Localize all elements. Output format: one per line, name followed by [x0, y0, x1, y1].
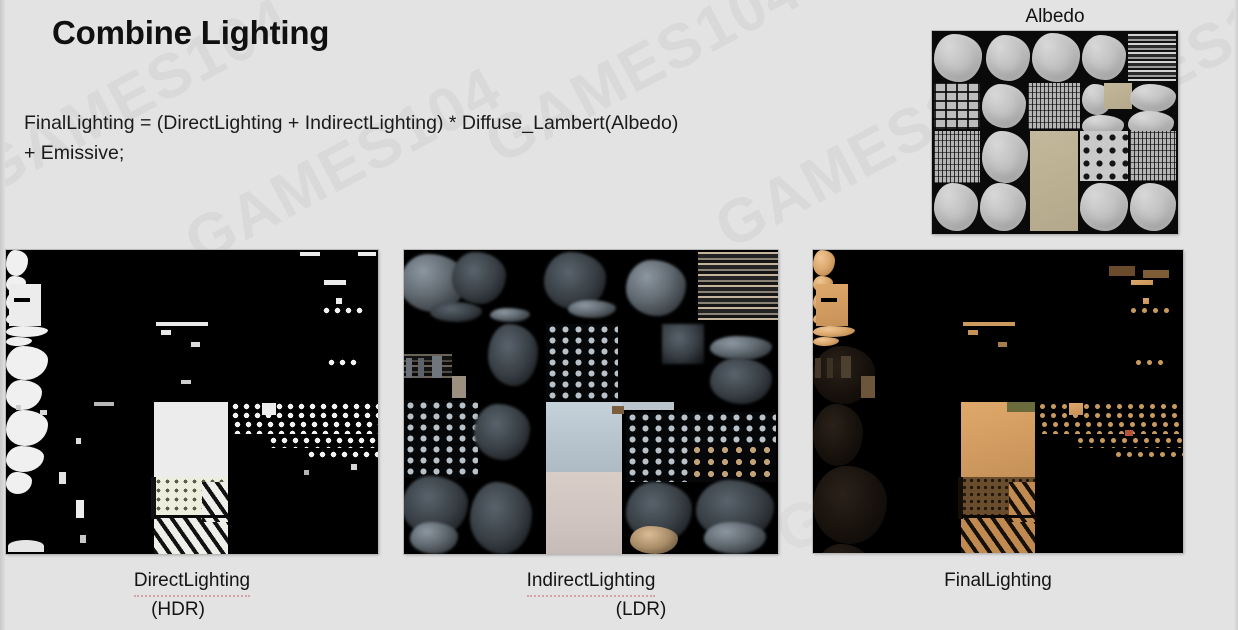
caption-indirect-line2: (LDR): [504, 597, 778, 623]
formula-line-2: + Emissive;: [24, 142, 124, 164]
caption-direct-lighting: DirectLighting (HDR): [6, 568, 378, 623]
direct-lighting-content: [6, 250, 378, 554]
final-lighting-content: [813, 250, 1183, 553]
direct-lighting-image: [6, 250, 378, 554]
caption-indirect-lighting: IndirectLighting (LDR): [404, 568, 778, 623]
albedo-texture-atlas: [932, 31, 1178, 234]
indirect-lighting-content: [404, 250, 778, 554]
albedo-label: Albedo: [932, 6, 1178, 28]
caption-direct-line1: DirectLighting: [134, 568, 250, 597]
caption-final-line1: FinalLighting: [813, 568, 1183, 594]
caption-direct-line2: (HDR): [0, 597, 378, 623]
caption-indirect-line1: IndirectLighting: [527, 568, 656, 597]
indirect-lighting-image: [404, 250, 778, 554]
slide-right-edge: [1234, 0, 1238, 630]
albedo-atlas-content: [932, 31, 1178, 234]
final-lighting-image: [813, 250, 1183, 553]
formula-line-1: FinalLighting = (DirectLighting + Indire…: [24, 112, 678, 134]
lighting-formula: FinalLighting = (DirectLighting + Indire…: [24, 108, 678, 168]
page-title: Combine Lighting: [52, 14, 329, 52]
slide-left-edge: [0, 0, 5, 630]
caption-final-lighting: FinalLighting: [813, 568, 1183, 594]
